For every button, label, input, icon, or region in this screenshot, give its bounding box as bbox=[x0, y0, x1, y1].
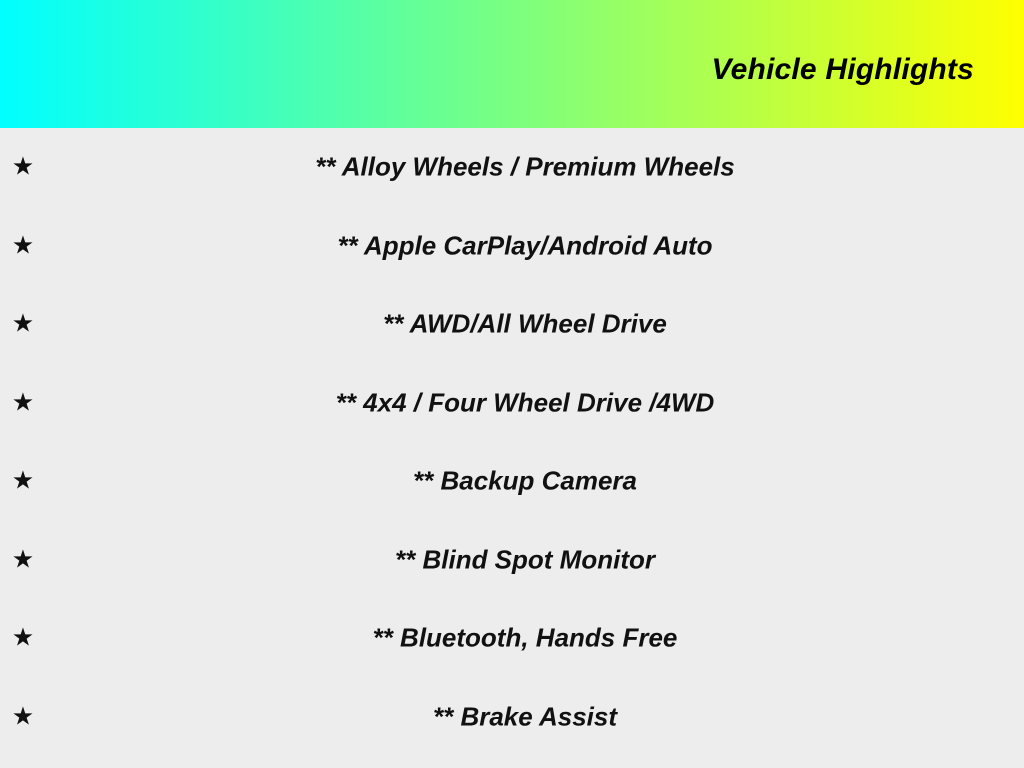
highlight-label: ** Bluetooth, Hands Free bbox=[0, 624, 1024, 653]
highlight-label: ** 4x4 / Four Wheel Drive /4WD bbox=[0, 388, 1024, 417]
highlight-label: ** Brake Assist bbox=[0, 702, 1024, 731]
list-item: ★ ** Alloy Wheels / Premium Wheels bbox=[0, 128, 1024, 207]
list-item: ★ ** AWD/All Wheel Drive bbox=[0, 285, 1024, 364]
highlight-label: ** Backup Camera bbox=[0, 467, 1024, 496]
list-item: ★ ** Bluetooth, Hands Free bbox=[0, 599, 1024, 678]
list-item: ★ ** Apple CarPlay/Android Auto bbox=[0, 207, 1024, 286]
vehicle-highlights-page: Vehicle Highlights ★ ** Alloy Wheels / P… bbox=[0, 0, 1024, 768]
highlight-label: ** Alloy Wheels / Premium Wheels bbox=[0, 153, 1024, 182]
highlight-label: ** Blind Spot Monitor bbox=[0, 545, 1024, 574]
list-item: ★ ** Backup Camera bbox=[0, 442, 1024, 521]
page-title: Vehicle Highlights bbox=[711, 55, 974, 85]
highlight-label: ** Apple CarPlay/Android Auto bbox=[0, 231, 1024, 260]
list-item: ★ ** Blind Spot Monitor bbox=[0, 521, 1024, 600]
highlights-list: ★ ** Alloy Wheels / Premium Wheels ★ ** … bbox=[0, 128, 1024, 768]
highlight-label: ** AWD/All Wheel Drive bbox=[0, 310, 1024, 339]
header-banner: Vehicle Highlights bbox=[0, 0, 1024, 128]
list-item: ★ ** 4x4 / Four Wheel Drive /4WD bbox=[0, 364, 1024, 443]
list-item: ★ ** Brake Assist bbox=[0, 678, 1024, 757]
